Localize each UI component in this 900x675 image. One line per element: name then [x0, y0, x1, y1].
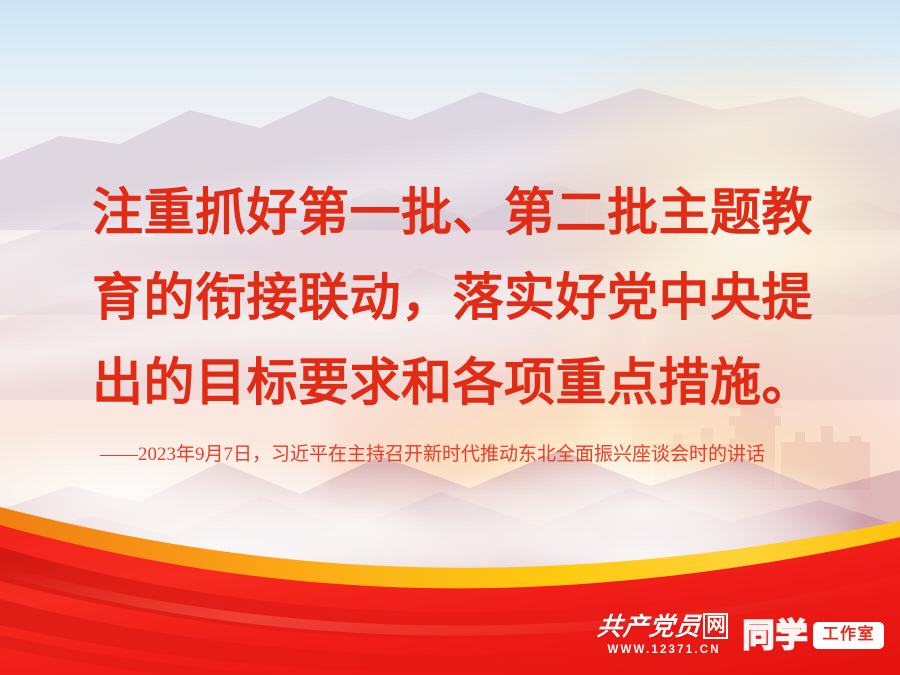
logo-party-member-net-box-char: 网 [703, 613, 728, 639]
logo-studio[interactable]: 同学 工作室 [742, 617, 884, 653]
logo-party-member-net-script: 共产党员 [596, 615, 703, 641]
footer-logo-group: 共产党员 网 WWW.12371.CN 同学 工作室 [597, 611, 884, 659]
logo-party-member-net[interactable]: 共产党员 网 WWW.12371.CN [597, 612, 728, 658]
logo-studio-pill-text: 工作室 [813, 622, 884, 649]
poster-canvas: 注重抓好第一批、第二批主题教育的衔接联动，落实好党中央提出的目标要求和各项重点措… [0, 0, 900, 675]
page-title: 注重抓好第一批、第二批主题教育的衔接联动，落实好党中央提出的目标要求和各项重点措… [92, 170, 822, 425]
quote-attribution: ——2023年9月7日，习近平在主持召开新时代推动东北全面振兴座谈会时的讲话 [100, 437, 842, 473]
logo-party-member-net-url: WWW.12371.CN [607, 643, 720, 657]
logo-studio-outline-text: 同学 [742, 617, 808, 653]
logo-party-member-net-wordmark: 共产党员 网 [597, 613, 728, 641]
